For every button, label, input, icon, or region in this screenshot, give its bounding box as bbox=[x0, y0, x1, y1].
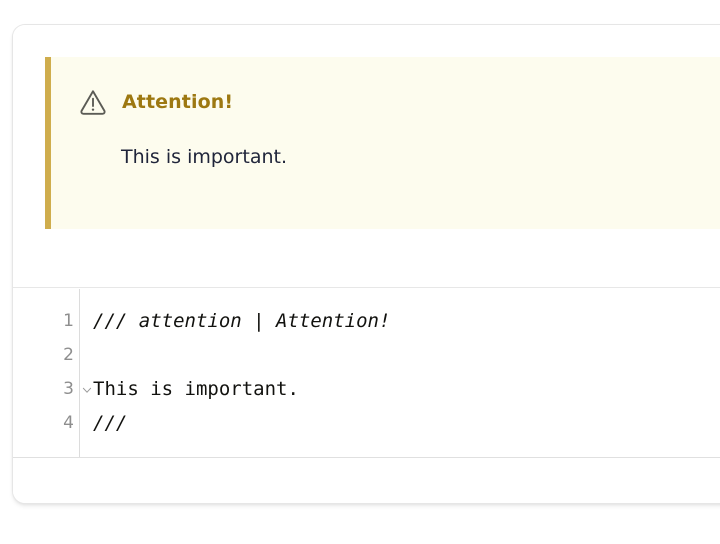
admonition-title: Attention! bbox=[122, 93, 233, 112]
line-number-3: 3 bbox=[63, 381, 74, 398]
rendered-preview-pane: Attention! This is important. bbox=[13, 25, 720, 288]
code-line-1[interactable]: /// attention | Attention! bbox=[93, 304, 720, 338]
editor-code-area[interactable]: /// attention | Attention! This is impor… bbox=[80, 289, 720, 457]
gutter-row-1: 1 bbox=[13, 304, 79, 338]
code-line-2[interactable] bbox=[93, 338, 720, 372]
gutter-row-4: 4 bbox=[13, 406, 79, 440]
card-footer-strip bbox=[13, 459, 720, 503]
preview-card: Attention! This is important. 1 2 3 bbox=[12, 24, 720, 504]
admonition-header: Attention! bbox=[51, 57, 720, 117]
gutter-row-3: 3 bbox=[13, 372, 79, 406]
code-line-3[interactable]: This is important. bbox=[93, 372, 720, 406]
admonition-body-text: This is important. bbox=[51, 117, 720, 169]
source-code-pane[interactable]: 1 2 3 4 /// atten bbox=[13, 289, 720, 458]
screenshot-root: Attention! This is important. 1 2 3 bbox=[0, 0, 720, 544]
warning-triangle-icon bbox=[78, 87, 108, 117]
gutter-row-2: 2 bbox=[13, 338, 79, 372]
editor-gutter: 1 2 3 4 bbox=[13, 289, 80, 457]
admonition-attention: Attention! This is important. bbox=[45, 57, 720, 229]
line-number-1: 1 bbox=[63, 313, 74, 330]
line-number-2: 2 bbox=[63, 347, 74, 364]
chevron-down-icon[interactable] bbox=[81, 383, 93, 395]
line-number-4: 4 bbox=[63, 415, 74, 432]
code-line-4[interactable]: /// bbox=[93, 406, 720, 440]
